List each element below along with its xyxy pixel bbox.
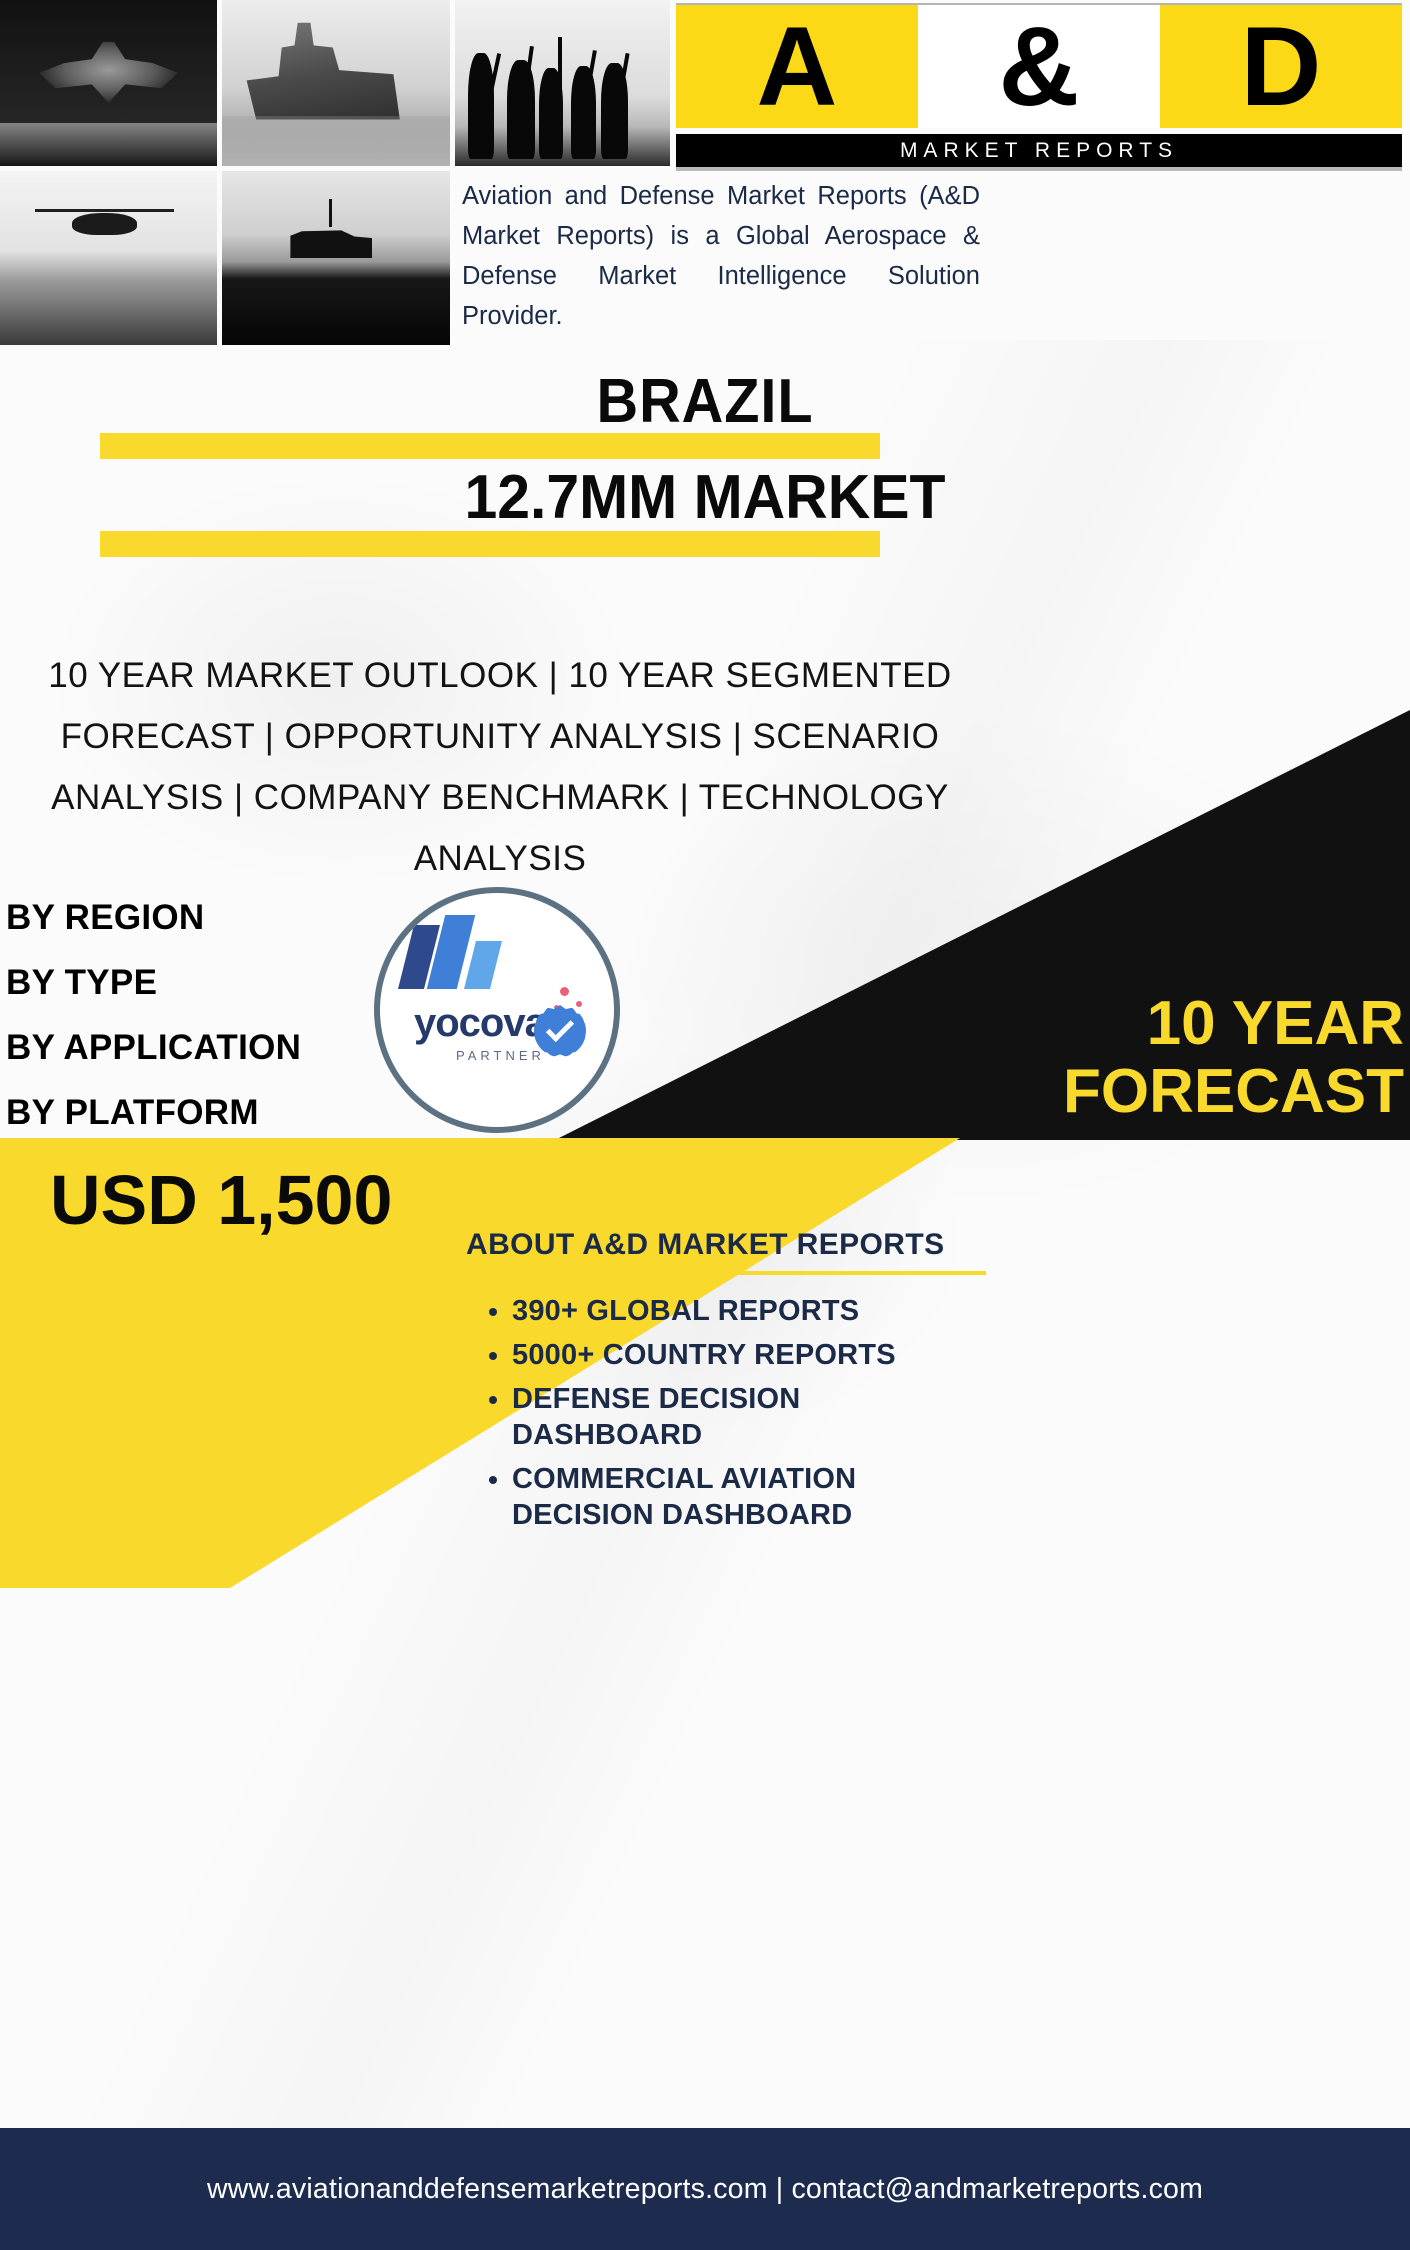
rifle-shape xyxy=(558,37,562,107)
soldier-figure xyxy=(468,53,494,159)
helicopter-photo xyxy=(0,171,217,345)
yocova-partner-badge: yocova PARTNER xyxy=(374,887,620,1133)
about-list-item: DEFENSE DECISION DASHBOARD xyxy=(512,1381,986,1453)
verified-check-seal-icon xyxy=(534,1005,586,1057)
about-list-item: COMMERCIAL AVIATION DECISION DASHBOARD xyxy=(512,1461,986,1533)
forecast-badge-line1: 10 YEAR xyxy=(644,990,1404,1058)
title-rule-bottom xyxy=(100,531,880,557)
about-list-item: 390+ GLOBAL REPORTS xyxy=(512,1293,986,1329)
page-title-country: BRAZIL xyxy=(49,366,1360,437)
logo-letter-d: D xyxy=(1160,5,1402,128)
logo-letter-row: A & D xyxy=(676,5,1402,128)
soldier-figure xyxy=(507,60,535,160)
about-section: ABOUT A&D MARKET REPORTS 390+ GLOBAL REP… xyxy=(466,1228,986,1541)
armored-vehicle-photo xyxy=(222,171,450,345)
footer-bar: www.aviationanddefensemarketreports.com … xyxy=(0,2128,1410,2250)
logo-tagline-text: MARKET REPORTS xyxy=(900,139,1178,163)
logo-letter-ampersand: & xyxy=(918,5,1160,128)
ad-market-reports-logo: A & D MARKET REPORTS xyxy=(676,3,1402,171)
header-photo-strip: A & D MARKET REPORTS Aviation and Defens… xyxy=(0,0,1410,348)
aircraft-carrier-photo xyxy=(222,0,450,166)
segmentation-list: BY REGION BY TYPE BY APPLICATION BY PLAT… xyxy=(6,885,426,1145)
segment-item-by-region: BY REGION xyxy=(6,885,426,950)
report-scope-text: 10 YEAR MARKET OUTLOOK | 10 YEAR SEGMENT… xyxy=(30,645,970,889)
segment-item-by-platform: BY PLATFORM xyxy=(6,1080,426,1145)
segment-item-by-type: BY TYPE xyxy=(6,950,426,1015)
soldier-figure xyxy=(571,66,596,159)
company-description: Aviation and Defense Market Reports (A&D… xyxy=(462,176,980,336)
forecast-badge: 10 YEAR FORECAST xyxy=(644,990,1404,1126)
logo-tagline-bar: MARKET REPORTS xyxy=(676,134,1402,167)
footer-contact-text[interactable]: www.aviationanddefensemarketreports.com … xyxy=(207,2173,1203,2206)
segment-item-by-application: BY APPLICATION xyxy=(6,1015,426,1080)
soldiers-silhouette-photo xyxy=(455,0,670,166)
yocova-shape-3 xyxy=(464,941,502,989)
page-title-market: 12.7MM MARKET xyxy=(35,462,1375,533)
about-heading-underline xyxy=(466,1271,986,1275)
fighter-jet-photo xyxy=(0,0,217,166)
about-list-item: 5000+ COUNTRY REPORTS xyxy=(512,1337,986,1373)
forecast-badge-line2: FORECAST xyxy=(644,1058,1404,1126)
logo-letter-a: A xyxy=(676,5,918,128)
logo-bottom-rule xyxy=(676,167,1402,171)
about-heading: ABOUT A&D MARKET REPORTS xyxy=(466,1228,986,1271)
title-rule-top xyxy=(100,433,880,459)
yocova-mark-icon xyxy=(406,915,502,995)
about-bullet-list: 390+ GLOBAL REPORTS 5000+ COUNTRY REPORT… xyxy=(512,1293,986,1533)
